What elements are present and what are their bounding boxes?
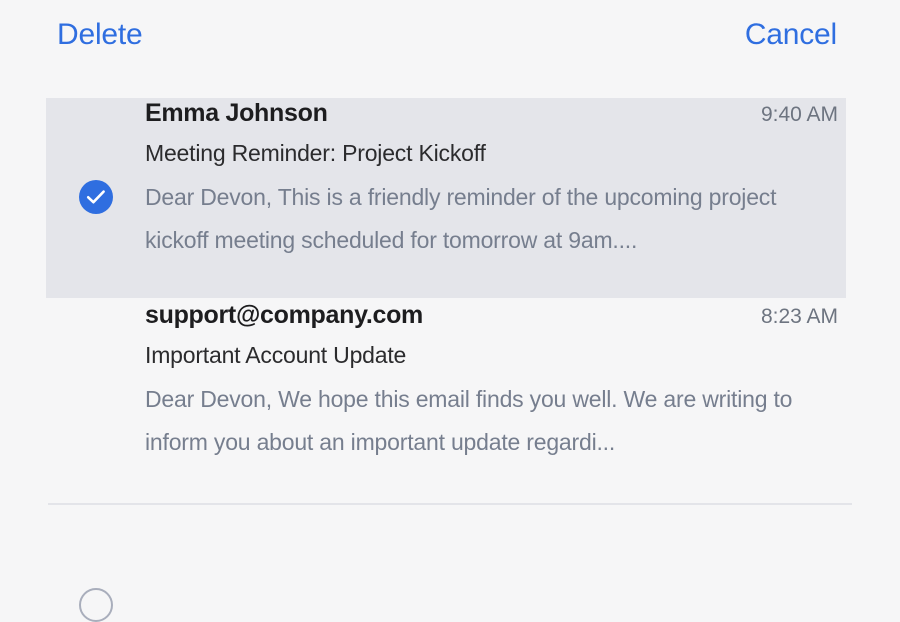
delete-button[interactable]: Delete	[57, 18, 143, 52]
circle-outline-icon[interactable]	[79, 588, 113, 622]
email-subject: Meeting Reminder: Project Kickoff	[145, 139, 838, 167]
email-preview: Dear Devon, This is a friendly reminder …	[145, 176, 838, 262]
cancel-button[interactable]: Cancel	[745, 18, 837, 52]
email-list-item[interactable]: support@company.com 8:23 AM Important Ac…	[0, 284, 900, 486]
email-timestamp: 9:40 AM	[747, 102, 838, 128]
email-preview: Dear Devon, We hope this email finds you…	[145, 378, 838, 464]
email-content: Emma Johnson 9:40 AM Meeting Reminder: P…	[145, 98, 838, 262]
email-list: Emma Johnson 9:40 AM Meeting Reminder: P…	[0, 82, 900, 486]
check-circle-filled-icon[interactable]	[79, 180, 113, 214]
email-list-item[interactable]: Emma Johnson 9:40 AM Meeting Reminder: P…	[0, 82, 900, 284]
email-subject: Important Account Update	[145, 341, 838, 369]
email-sender: support@company.com	[145, 300, 423, 330]
selection-toolbar: Delete Cancel	[0, 0, 900, 82]
list-divider	[48, 503, 852, 505]
email-timestamp: 8:23 AM	[747, 304, 838, 330]
email-selection-screen: Delete Cancel Emma Johnson 9:40 AM Meeti…	[0, 0, 900, 526]
email-header-line: support@company.com 8:23 AM	[145, 300, 838, 330]
email-sender: Emma Johnson	[145, 98, 328, 128]
email-header-line: Emma Johnson 9:40 AM	[145, 98, 838, 128]
email-content: support@company.com 8:23 AM Important Ac…	[145, 300, 838, 464]
